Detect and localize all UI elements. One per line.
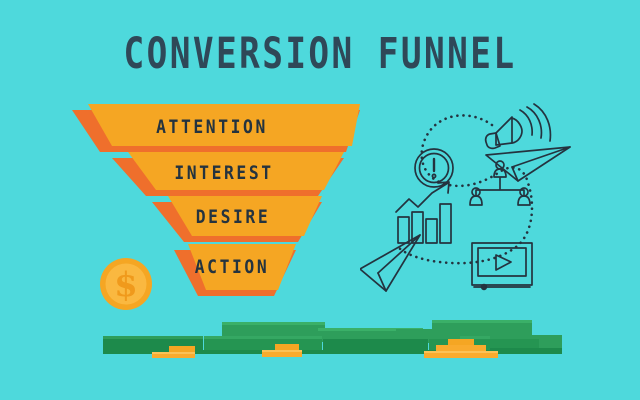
funnel-stage-2-label: INTEREST	[121, 162, 327, 184]
conversion-funnel: ATTENTION INTEREST DESIRE ACTION	[0, 0, 400, 320]
video-player-icon	[472, 243, 532, 289]
alert-circle-icon	[415, 149, 453, 187]
coin-dollar-symbol: $	[114, 265, 138, 305]
infographic-canvas: CONVERSION FUNNEL ATTENTION INTEREST	[0, 0, 640, 400]
funnel-stage-3-label: DESIRE	[156, 206, 309, 228]
funnel-stage-1[interactable]: ATTENTION	[64, 104, 360, 152]
funnel-stage-1-label: ATTENTION	[85, 116, 340, 138]
paper-plane-icon	[486, 147, 570, 181]
paper-plane-icon	[360, 235, 420, 291]
bar-chart-growth-icon	[396, 182, 451, 243]
megaphone-icon	[486, 104, 551, 148]
cash-stacks	[0, 300, 640, 370]
org-chart-people-icon	[470, 161, 530, 205]
funnel-stage-4[interactable]: ACTION	[168, 244, 296, 296]
marketing-doodles	[360, 95, 590, 295]
funnel-stage-4-label: ACTION	[177, 256, 287, 278]
funnel-stage-3[interactable]: DESIRE	[144, 196, 322, 242]
funnel-stage-2[interactable]: INTEREST	[104, 152, 344, 196]
